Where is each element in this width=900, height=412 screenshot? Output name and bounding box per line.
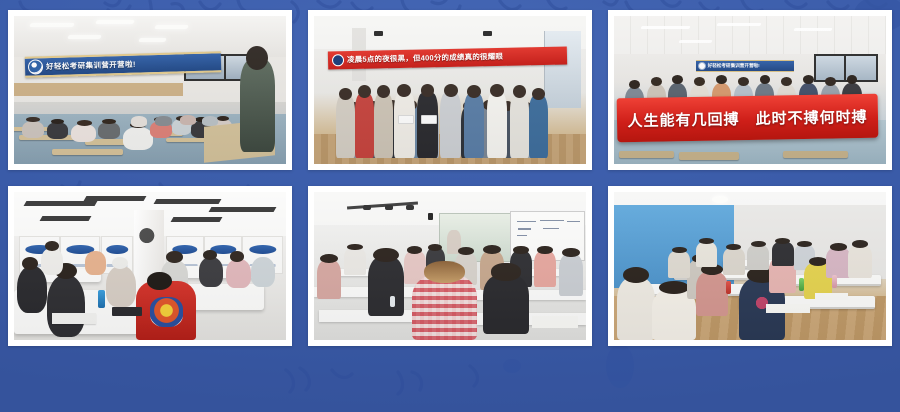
photo-3-banner-text: 人生能有几回搏 此时不搏何时搏 <box>627 106 867 131</box>
photo-frame-1[interactable]: 好轻松考研集训营开营啦! <box>8 10 292 170</box>
photo-2-group-photo-award: 凌晨5点的夜很黑，但400分的成绩真的很耀眼 <box>314 16 586 164</box>
student-plaid-shirt <box>412 275 477 340</box>
photo-cell-6 <box>600 180 900 352</box>
photo-frame-2[interactable]: 凌晨5点的夜很黑，但400分的成绩真的很耀眼 <box>308 10 592 170</box>
teacher-figure <box>240 60 275 152</box>
award-plaque <box>398 115 414 124</box>
water-bottle <box>799 278 804 291</box>
photo-cell-2: 凌晨5点的夜很黑，但400分的成绩真的很耀眼 <box>300 0 600 180</box>
water-cup <box>390 296 395 307</box>
photo-grid: 好轻松考研集训营开营啦! <box>0 0 900 412</box>
group-photo-people <box>314 57 586 164</box>
school-logo-icon <box>698 62 706 70</box>
exam-paper <box>815 293 848 300</box>
photo-cell-4 <box>0 180 300 352</box>
photo-4-open-study-area <box>14 192 286 340</box>
photo-5-lecture-hall <box>314 192 586 340</box>
photo-frame-4[interactable] <box>8 186 292 346</box>
ceiling-speaker <box>428 213 433 220</box>
photo-frame-5[interactable] <box>308 186 592 346</box>
photo-3-banner: 人生能有几回搏 此时不搏何时搏 <box>616 94 878 143</box>
award-plaque <box>421 115 437 124</box>
school-logo-icon <box>28 60 43 75</box>
water-bottle <box>832 275 837 288</box>
photo-3-secondary-banner: 好轻松考研集训营开营啦! <box>696 60 794 72</box>
photo-cell-5 <box>300 180 600 352</box>
laptop <box>112 307 142 316</box>
water-bottle <box>726 281 731 294</box>
notebook <box>532 316 578 328</box>
student-red-shirt <box>136 281 196 340</box>
exam-paper <box>766 304 810 313</box>
photo-1-banner-text: 好轻松考研集训营开营啦! <box>46 59 136 73</box>
photo-2-banner-text: 凌晨5点的夜很黑，但400分的成绩真的很耀眼 <box>347 51 503 65</box>
photo-frame-6[interactable] <box>608 186 892 346</box>
notebook <box>52 313 96 323</box>
window-icon <box>814 54 878 82</box>
photo-cell-1: 好轻松考研集训营开营啦! <box>0 0 300 180</box>
photo-cell-3: 好轻松考研集训营开营啦! <box>600 0 900 180</box>
photo-1-classroom-opening-ceremony: 好轻松考研集训营开营啦! <box>14 16 286 164</box>
school-logo-icon <box>331 54 343 66</box>
photo-3-banner-group-photo: 好轻松考研集训营开营啦! <box>614 16 886 164</box>
gallery-stage: 好轻松考研集训营开营啦! <box>0 0 900 412</box>
brand-logo-icon <box>249 245 276 254</box>
wall-art-icon <box>138 228 160 247</box>
photo-6-exam-room <box>614 192 886 340</box>
photo-3-secondary-banner-text: 好轻松考研集训营开营啦! <box>708 63 760 69</box>
water-bottle <box>98 290 105 308</box>
brand-logo-icon <box>106 245 128 254</box>
photo-frame-3[interactable]: 好轻松考研集训营开营啦! <box>608 10 892 170</box>
